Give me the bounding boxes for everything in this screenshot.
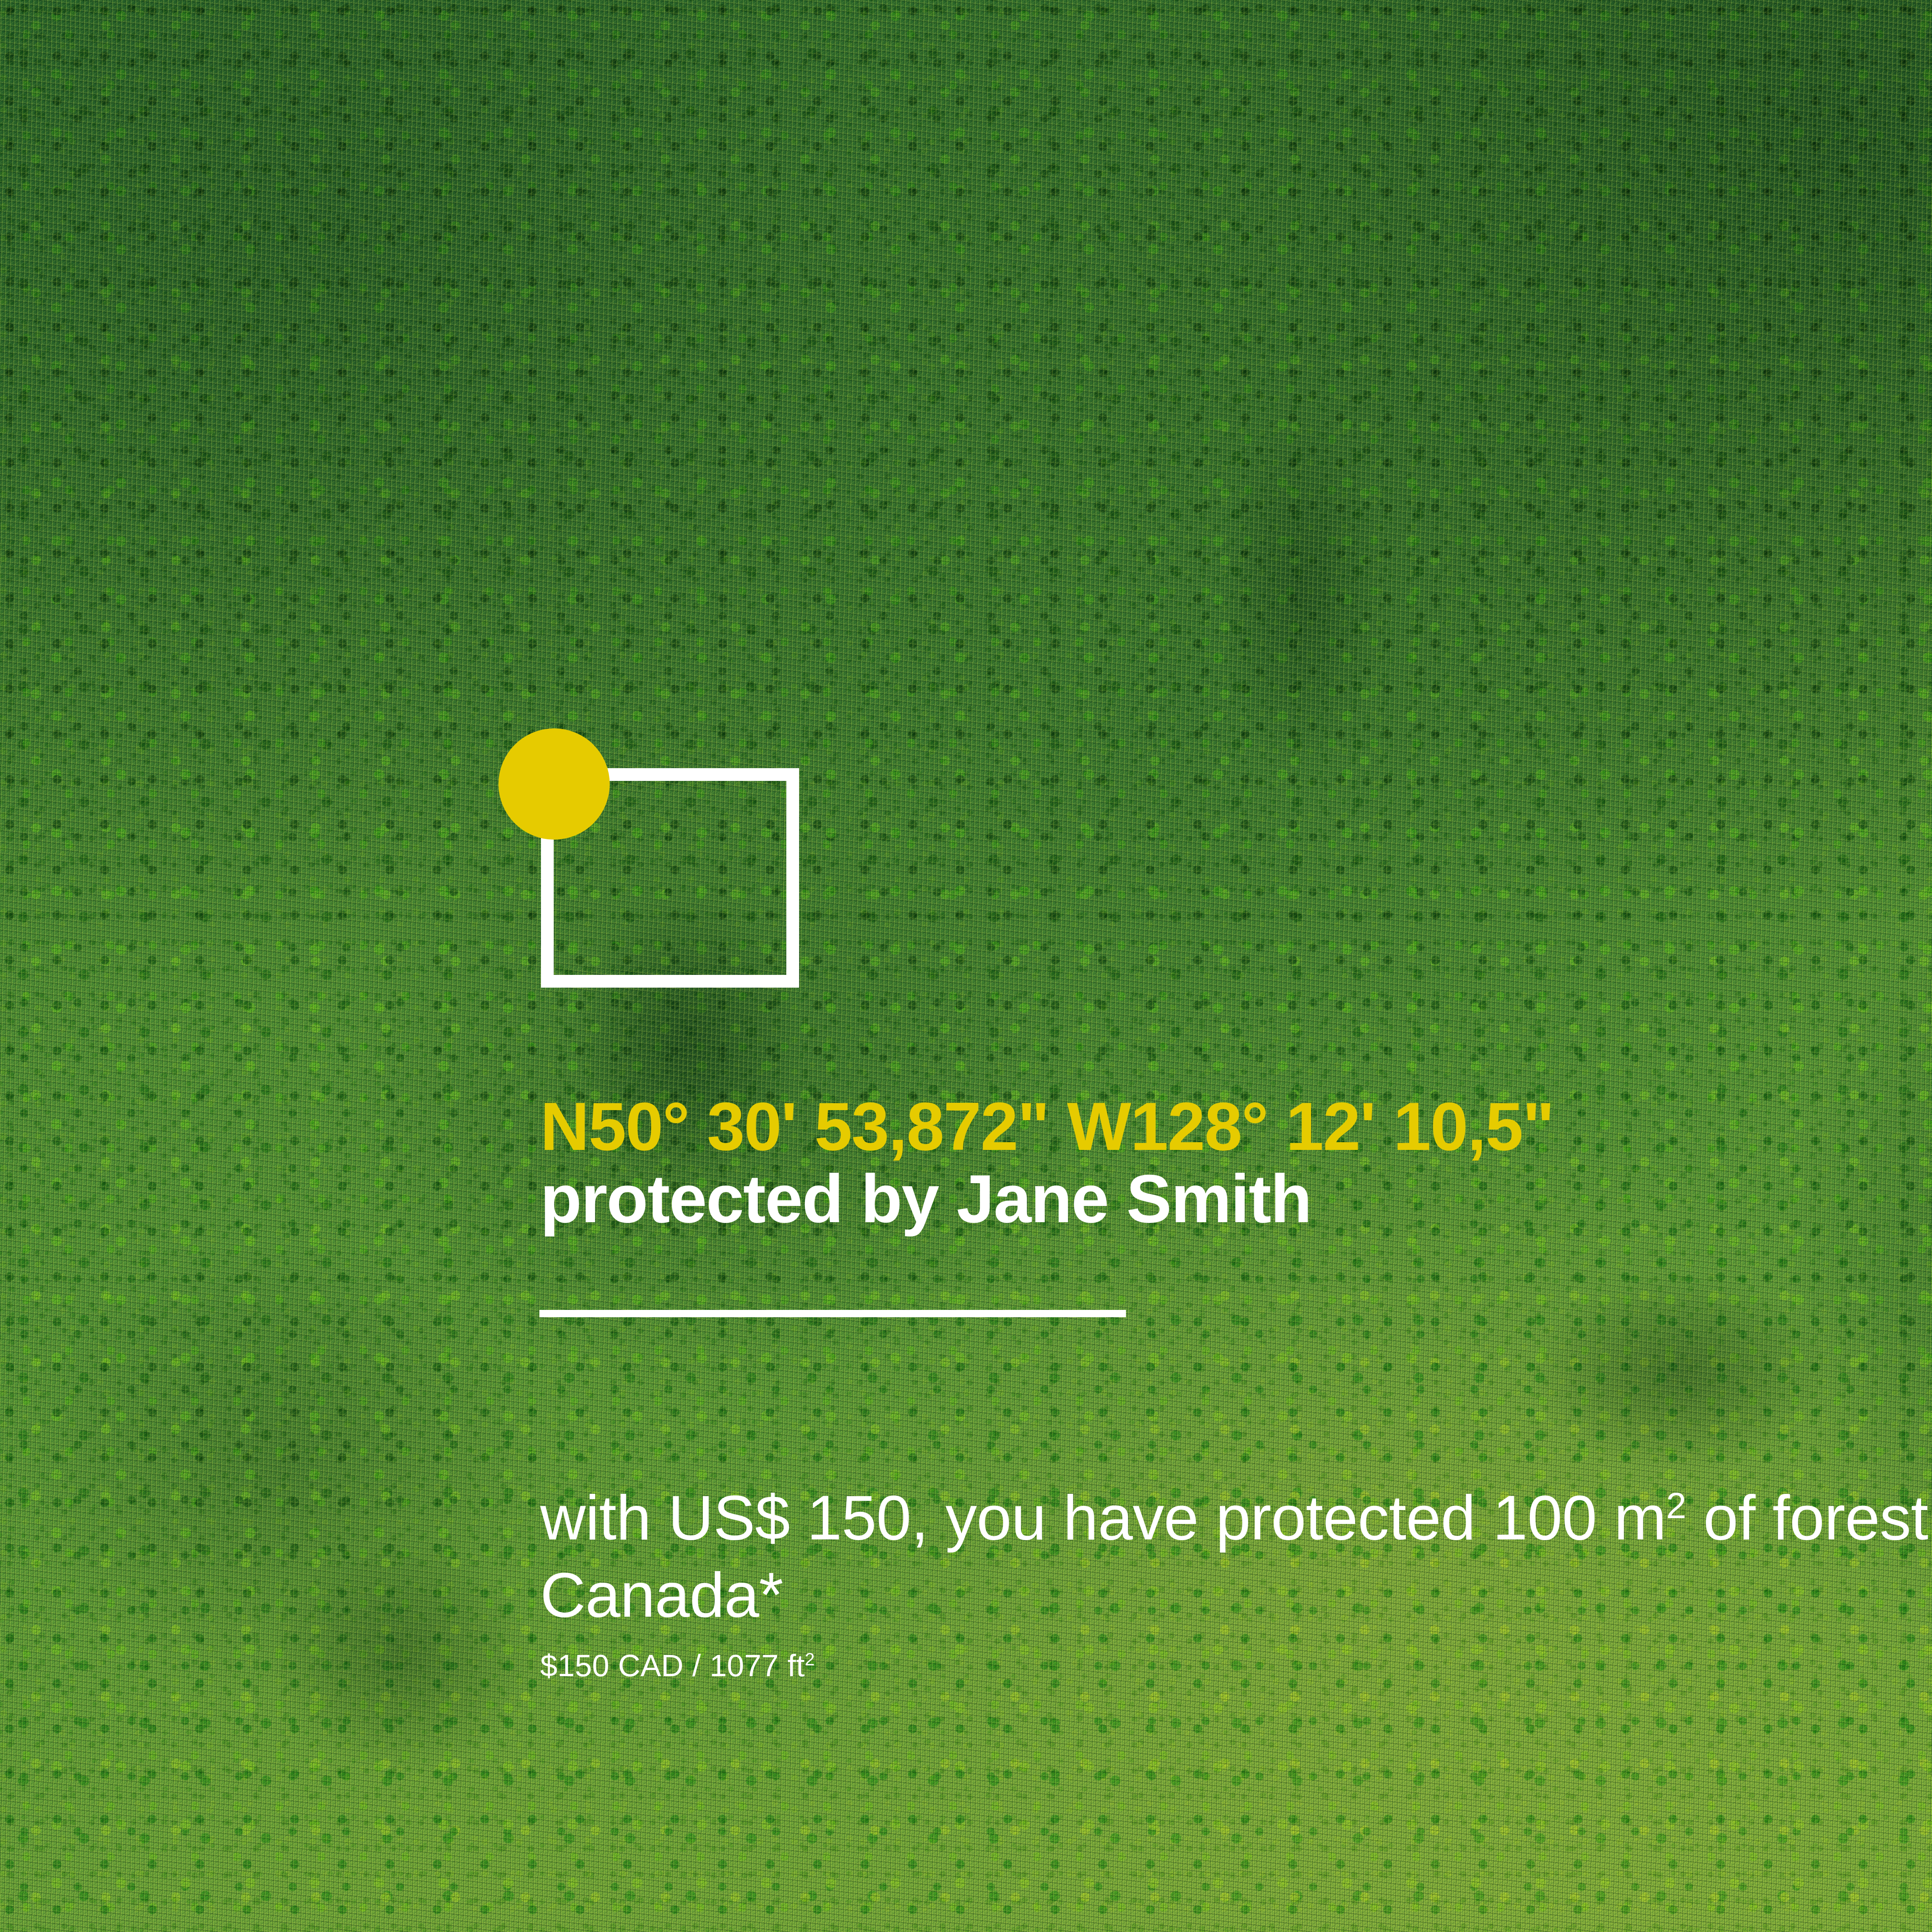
divider-rule (539, 1310, 1126, 1317)
brand-logo (498, 728, 815, 995)
certificate-canvas: N50° 30' 53,872" W128° 12' 10,5" protect… (0, 0, 1932, 1932)
subnote-exponent: 2 (805, 1649, 815, 1669)
protected-by-text: protected by Jane Smith (540, 1163, 1932, 1235)
description-text: with US$ 150, you have protected 100 m2 … (540, 1479, 1932, 1634)
subnote-text: $150 CAD / 1077 ft2 (540, 1647, 1932, 1684)
description-lead: with US$ 150, you have protected 100 m (540, 1482, 1666, 1553)
certificate-overlay: N50° 30' 53,872" W128° 12' 10,5" protect… (0, 0, 1932, 1932)
description-exponent: 2 (1666, 1485, 1686, 1526)
coordinates-text: N50° 30' 53,872" W128° 12' 10,5" (540, 1090, 1932, 1163)
headline-block: N50° 30' 53,872" W128° 12' 10,5" protect… (540, 1090, 1932, 1235)
subnote-lead: $150 CAD / 1077 ft (540, 1648, 805, 1683)
yellow-circle-icon (498, 728, 610, 840)
description-block: with US$ 150, you have protected 100 m2 … (540, 1479, 1932, 1684)
